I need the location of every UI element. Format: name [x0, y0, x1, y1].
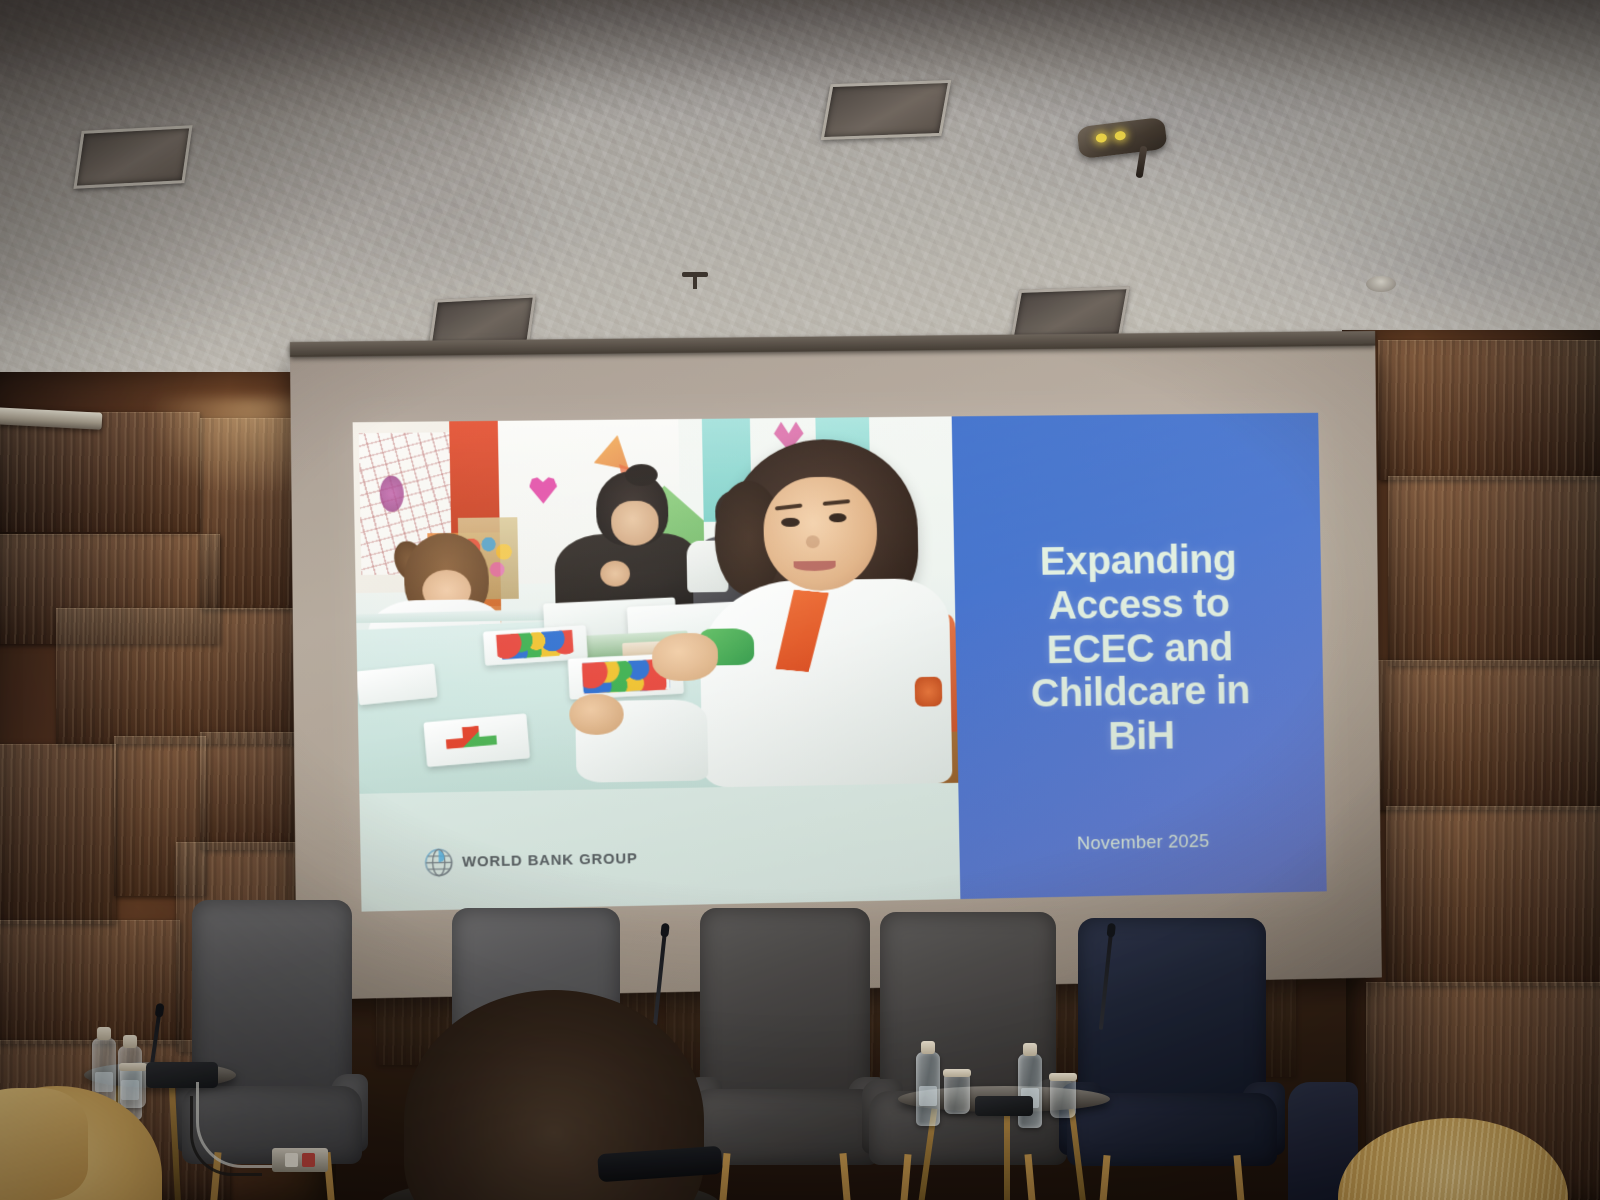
air-vent-icon [821, 80, 952, 140]
world-bank-logo-text: WORLD BANK GROUP [462, 850, 638, 870]
photo-puzzle-tray [423, 713, 529, 766]
air-vent-icon [73, 125, 192, 189]
wood-panel [1388, 476, 1600, 666]
slide-title-line: ECEC and [1030, 625, 1250, 672]
photo-smock-badge [915, 677, 942, 707]
wood-panel [0, 744, 116, 924]
slide-footer: WORLD BANK GROUP [359, 783, 960, 911]
photo-teacher-face [611, 501, 660, 546]
slide-date: November 2025 [959, 829, 1326, 858]
wood-panel [1372, 660, 1600, 810]
photo-foreground-girl-hand [569, 693, 624, 735]
slide-title-line: Access to [1029, 581, 1249, 628]
slide-title: Expanding Access to ECEC and Childcare i… [1015, 537, 1265, 760]
audience-member-left-hair [0, 1088, 88, 1200]
slide-title-line: BiH [1031, 712, 1251, 760]
photo-girl-eye [781, 517, 799, 527]
photo-teacher-hand [600, 560, 630, 586]
table-leg [169, 1080, 182, 1200]
slide-left-column: WORLD BANK GROUP [353, 416, 961, 911]
wood-panel [56, 608, 312, 744]
photo-girl-nose [805, 535, 819, 548]
wood-panel [1378, 340, 1600, 480]
table-leg [1068, 1104, 1090, 1200]
world-bank-logo: WORLD BANK GROUP [424, 844, 638, 877]
table-leg [1004, 1104, 1010, 1200]
wood-panel [1386, 806, 1600, 986]
panel-chair[interactable] [700, 908, 870, 1200]
slide-title-line: Expanding [1028, 537, 1248, 584]
right-wood-wall [1342, 330, 1600, 1200]
drinking-glass[interactable] [944, 1074, 970, 1114]
drinking-glass[interactable] [1050, 1078, 1076, 1118]
ceiling-hook-icon [682, 272, 708, 277]
water-bottle[interactable] [916, 1052, 940, 1126]
classroom-photo [353, 416, 959, 794]
water-bottle[interactable] [1018, 1054, 1042, 1128]
slide-title-panel: Expanding Access to ECEC and Childcare i… [951, 413, 1326, 899]
projection-screen: WORLD BANK GROUP Expanding Access to ECE… [290, 344, 1382, 1000]
presentation-slide: WORLD BANK GROUP Expanding Access to ECE… [353, 413, 1327, 912]
sprinkler-head-icon [1366, 276, 1396, 292]
globe-icon [424, 848, 453, 877]
wood-panel [0, 920, 180, 1044]
photo-foreground-girl-hand [652, 633, 719, 682]
slide-title-line: Childcare in [1031, 668, 1251, 715]
drinking-glass[interactable] [120, 1068, 146, 1108]
av-console[interactable] [975, 1096, 1033, 1116]
conference-room-scene: WORLD BANK GROUP Expanding Access to ECE… [0, 0, 1600, 1200]
floor-power-socket[interactable] [272, 1148, 328, 1172]
photo-foreground-girl-face [763, 476, 878, 591]
